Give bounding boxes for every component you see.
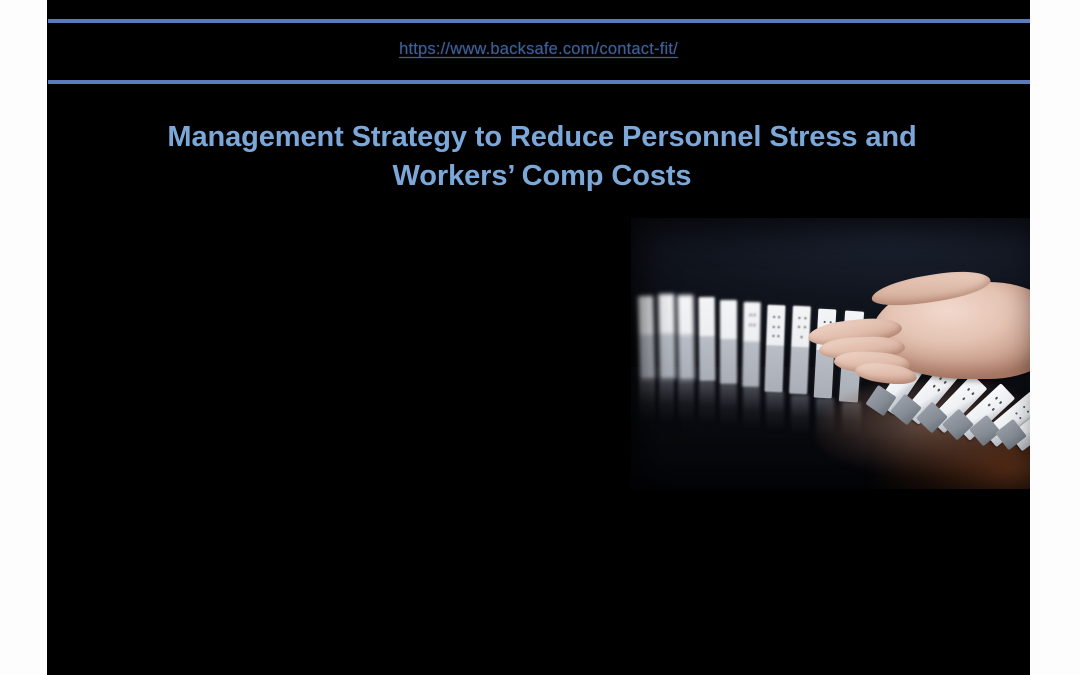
domino-reflection [659,379,675,422]
domino-reflection [720,384,736,427]
bottom-divider-line [48,80,1030,84]
slide-page: https://www.backsafe.com/contact-fit/ Ma… [0,0,1080,675]
domino-reflection [743,387,760,430]
domino-standing [699,297,716,381]
photo-inner [631,218,1030,489]
header-url-band: https://www.backsafe.com/contact-fit/ [47,40,1030,59]
left-margin [0,0,47,675]
domino-standing [658,294,675,380]
top-divider-line [48,19,1030,23]
domino-reflection [678,380,694,423]
domino-photo [631,218,1030,489]
title-line-2: Workers’ Comp Costs [102,157,982,196]
domino-reflection [699,381,715,424]
slide-canvas: https://www.backsafe.com/contact-fit/ Ma… [47,0,1030,675]
domino-reflection [791,395,809,436]
website-url-link[interactable]: https://www.backsafe.com/contact-fit/ [399,40,678,59]
domino-standing [742,302,760,387]
page-title: Management Strategy to Reduce Personnel … [102,118,982,195]
domino-reflection [639,379,654,422]
domino-standing [638,296,655,379]
right-margin [1030,0,1080,675]
domino-reflection [766,391,784,432]
domino-standing [678,295,695,380]
domino-standing [765,304,786,391]
domino-standing [720,300,736,384]
open-hand [803,272,1030,397]
title-line-1: Management Strategy to Reduce Personnel … [102,118,982,157]
